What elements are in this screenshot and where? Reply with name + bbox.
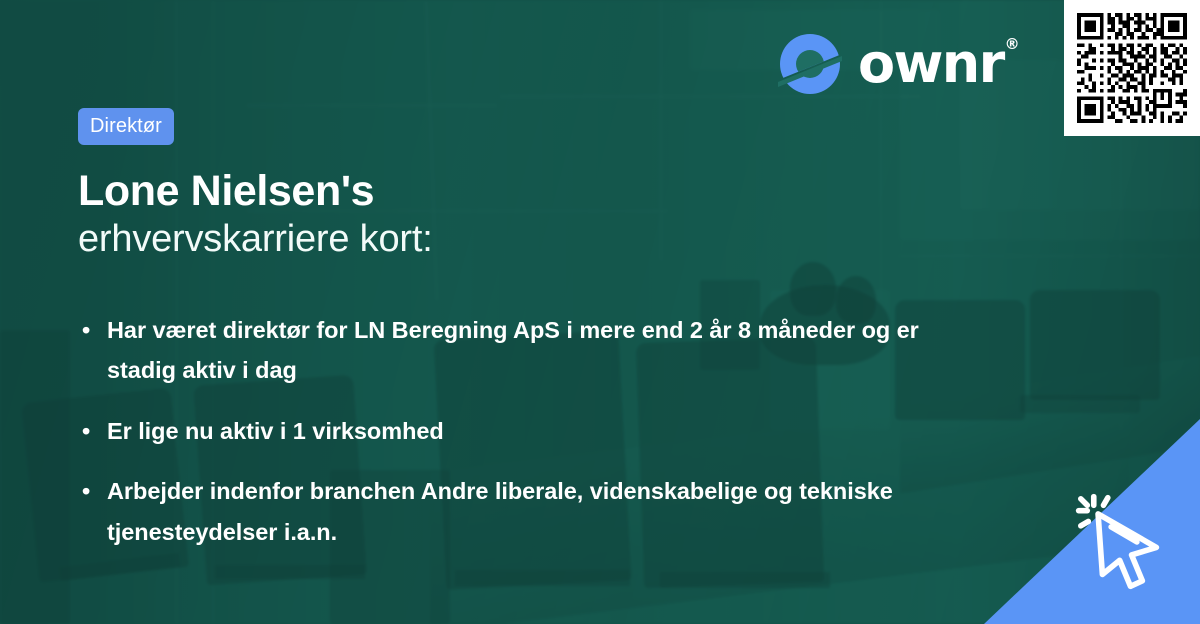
career-card: ownr® xyxy=(0,0,1200,624)
role-badge: Direktør xyxy=(78,108,174,145)
click-cursor-icon xyxy=(1070,488,1178,596)
list-item: Er lige nu aktiv i 1 virksomhed xyxy=(80,411,960,451)
ownr-logo[interactable]: ownr® xyxy=(778,32,1019,96)
career-facts-list: Har været direktør for LN Beregning ApS … xyxy=(80,310,960,552)
qr-code-image xyxy=(1077,13,1187,123)
list-item: Har været direktør for LN Beregning ApS … xyxy=(80,310,960,391)
registered-trademark-icon: ® xyxy=(1005,35,1020,53)
page-title: Lone Nielsen's xyxy=(78,167,908,215)
ownr-wordmark-text: ownr xyxy=(858,32,1004,95)
list-item: Arbejder indenfor branchen Andre liberal… xyxy=(80,471,960,552)
ownr-circle-swirl-logo xyxy=(778,32,842,96)
page-subtitle: erhvervskarriere kort: xyxy=(78,217,908,263)
qr-code[interactable] xyxy=(1064,0,1200,136)
ownr-wordmark: ownr® xyxy=(858,37,1019,91)
headline-block: Direktør Lone Nielsen's erhvervskarriere… xyxy=(78,108,908,263)
